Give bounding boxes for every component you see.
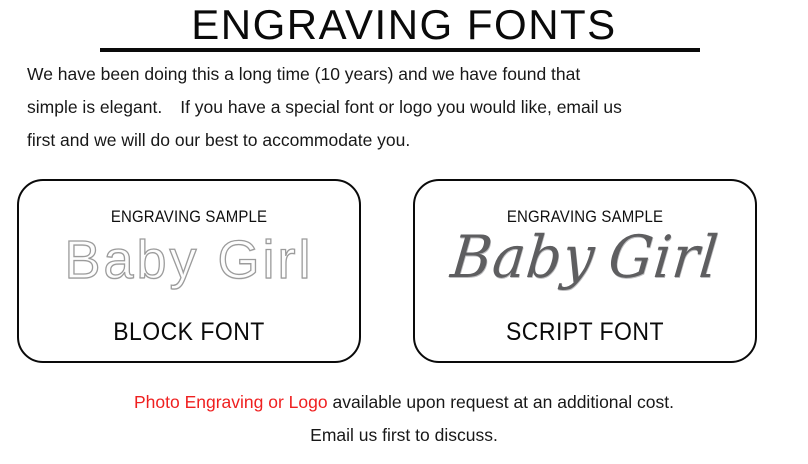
sample-box-script-font[interactable]: ENGRAVING SAMPLE BabyGirl SCRIPT FONT bbox=[413, 179, 757, 363]
intro-line-2-second: If you have a special font or logo you w… bbox=[180, 97, 622, 117]
sample-word-first: Baby bbox=[448, 223, 599, 291]
footer-line-1-rest: available upon request at an additional … bbox=[328, 392, 674, 412]
footer-highlight-text: Photo Engraving or Logo bbox=[134, 392, 328, 412]
intro-line-1: We have been doing this a long time (10 … bbox=[27, 64, 580, 84]
footer-line-2: Email us first to discuss. bbox=[310, 425, 498, 445]
sample-caption-bottom: BLOCK FONT bbox=[33, 318, 346, 347]
sample-box-block-font[interactable]: ENGRAVING SAMPLE BabyGirl BLOCK FONT bbox=[17, 179, 361, 363]
sample-word-second: Girl bbox=[218, 230, 314, 290]
intro-paragraph: We have been doing this a long time (10 … bbox=[27, 58, 779, 157]
intro-line-2-first: simple is elegant. bbox=[27, 97, 162, 117]
title-underline-rule bbox=[100, 48, 700, 52]
sample-word-script-font: BabyGirl bbox=[413, 219, 757, 295]
footer-note: Photo Engraving or Logo available upon r… bbox=[0, 386, 808, 452]
engraving-fonts-page: { "page": { "title": "ENGRAVING FONTS", … bbox=[0, 0, 808, 464]
sample-word-block-font: BabyGirl bbox=[19, 227, 359, 293]
sample-word-second: Girl bbox=[605, 223, 722, 291]
intro-line-3: first and we will do our best to accommo… bbox=[27, 130, 410, 150]
sample-caption-top: ENGRAVING SAMPLE bbox=[39, 207, 338, 227]
sample-word-first: Baby bbox=[64, 230, 199, 290]
page-title-block: ENGRAVING FONTS bbox=[0, 2, 808, 48]
page-title: ENGRAVING FONTS bbox=[0, 2, 808, 48]
sample-boxes-row: ENGRAVING SAMPLE BabyGirl BLOCK FONT ENG… bbox=[0, 179, 808, 365]
sample-caption-bottom: SCRIPT FONT bbox=[429, 318, 742, 347]
